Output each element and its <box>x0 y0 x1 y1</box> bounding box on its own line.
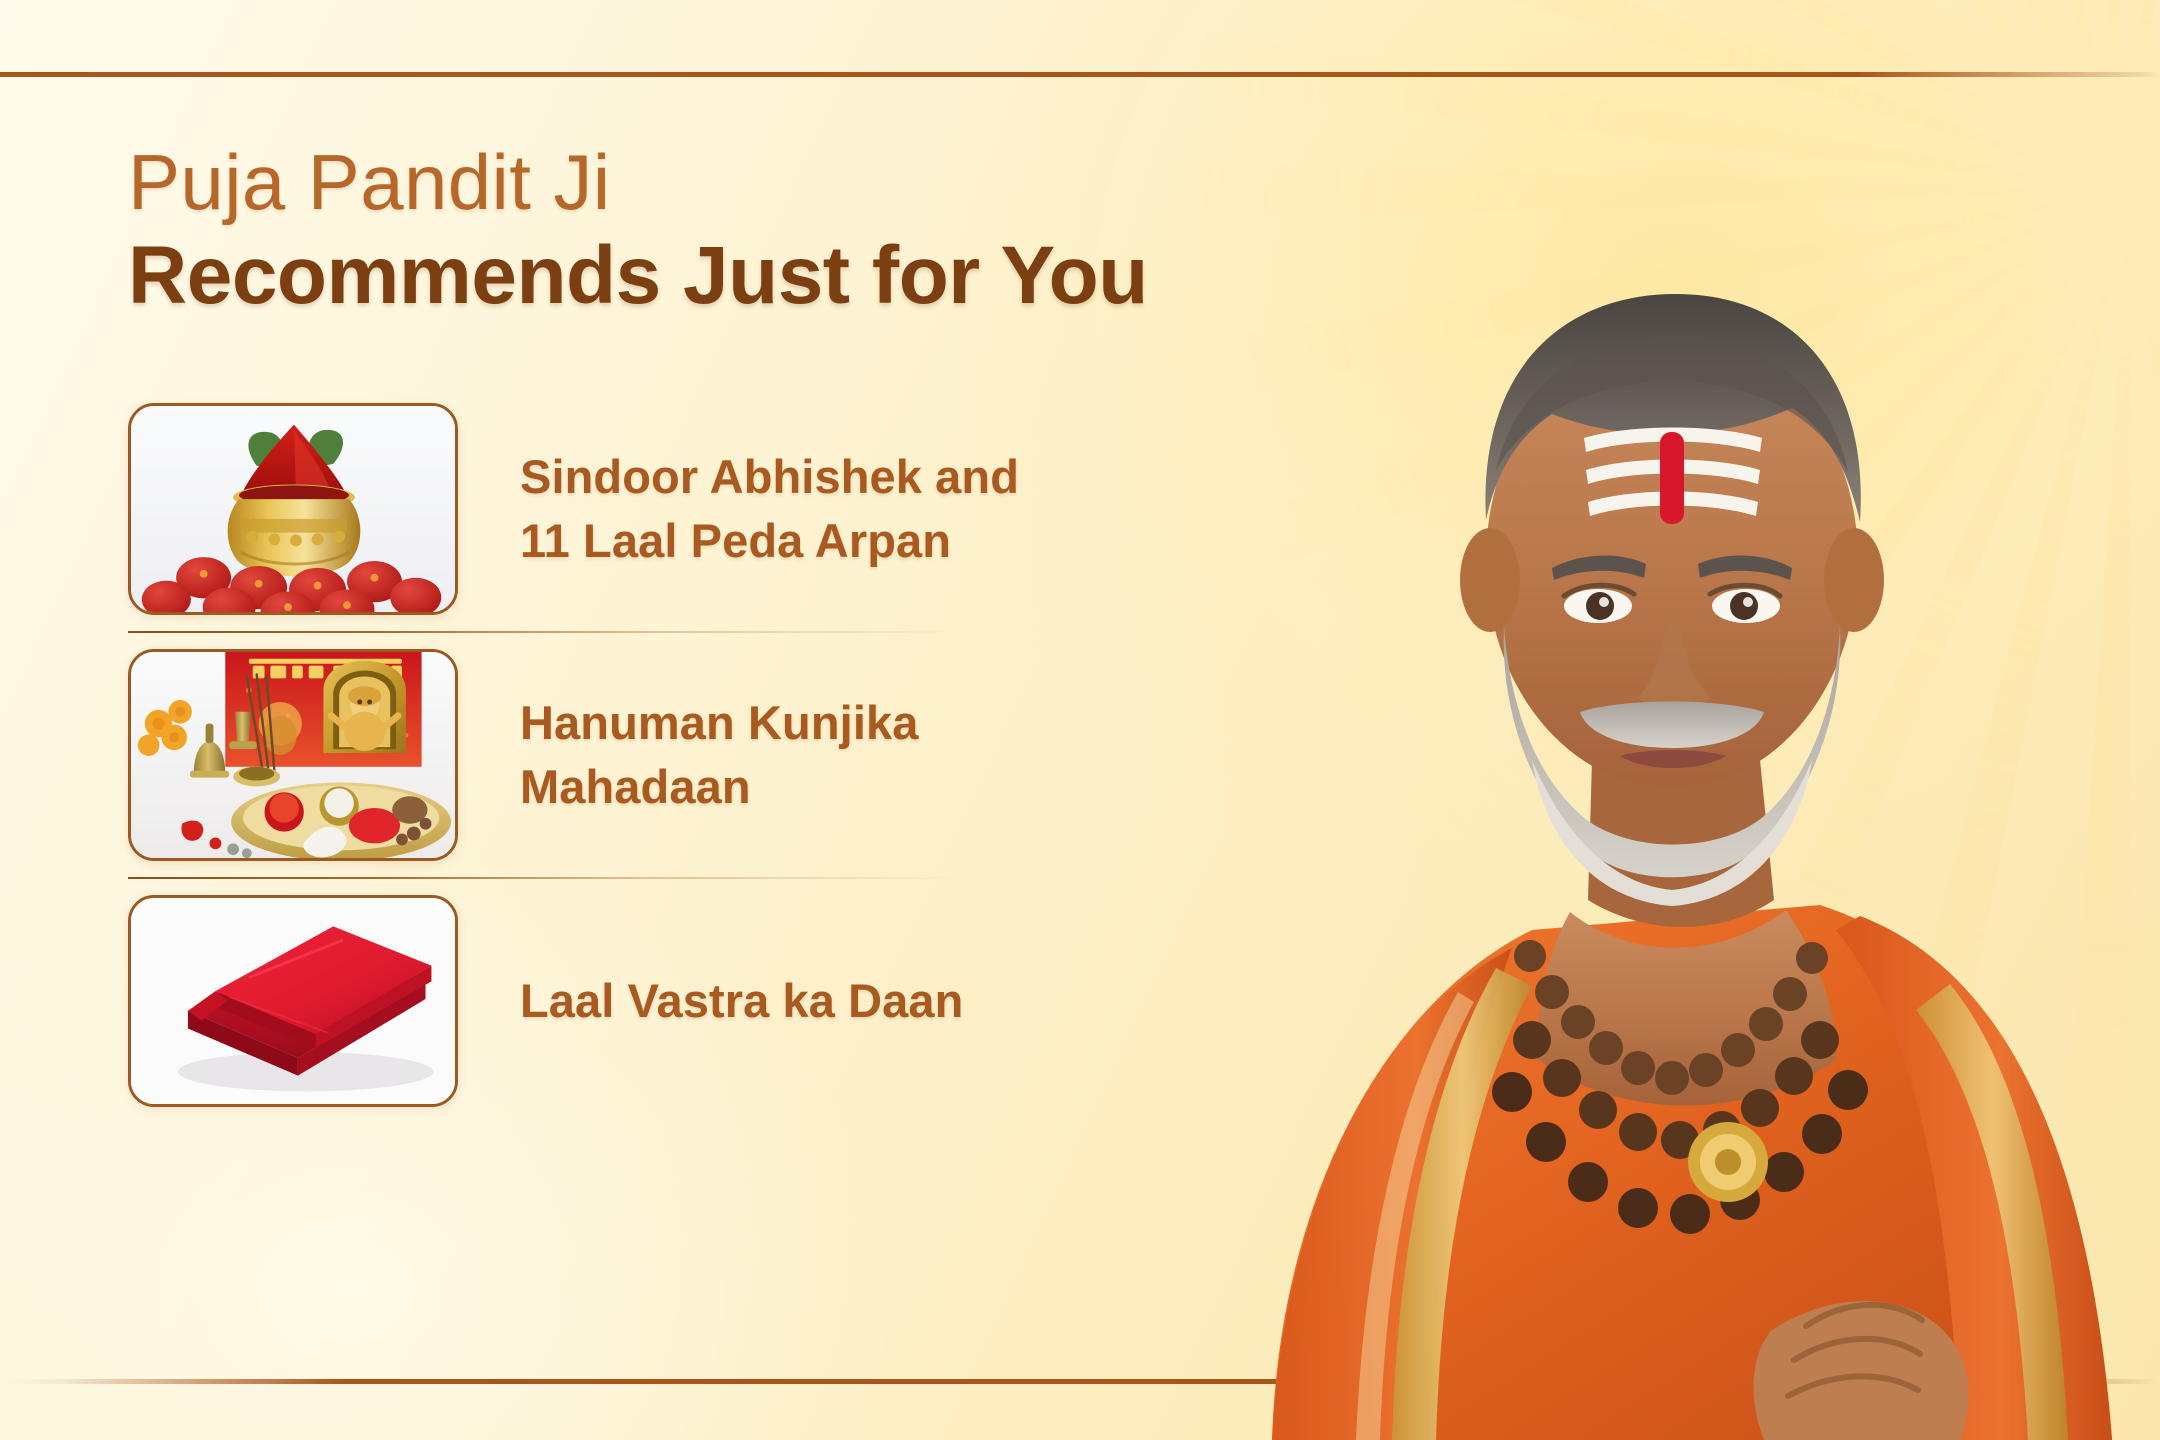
recommendation-list: Sindoor Abhishek and 11 Laal Peda Arpan <box>128 387 1088 1123</box>
list-item-label-line2: 11 Laal Peda Arpan <box>520 509 1019 573</box>
hanuman-puja-thali-image <box>128 649 458 861</box>
list-item-label-line1: Laal Vastra ka Daan <box>520 974 963 1027</box>
list-item-label-line1: Hanuman Kunjika <box>520 696 918 749</box>
top-divider-rule <box>0 72 2160 77</box>
list-item-label: Hanuman Kunjika Mahadaan <box>520 691 918 819</box>
red-folded-cloth-image <box>128 895 458 1107</box>
pandit-portrait <box>1160 0 2160 1440</box>
list-item-label: Sindoor Abhishek and 11 Laal Peda Arpan <box>520 445 1019 573</box>
promo-banner: Puja Pandit Ji Recommends Just for You <box>0 0 2160 1440</box>
list-item[interactable]: Laal Vastra ka Daan <box>128 879 1088 1123</box>
list-item[interactable]: Hanuman Kunjika Mahadaan <box>128 633 1088 877</box>
list-item-label-line1: Sindoor Abhishek and <box>520 450 1019 503</box>
page-title-line1: Puja Pandit Ji <box>128 140 1218 224</box>
tilak-mark <box>1584 428 1762 525</box>
rudraksha-mala <box>1492 940 1868 1234</box>
sindoor-kalash-peda-image <box>128 403 458 615</box>
sunburst-rays-icon <box>1180 0 2160 1140</box>
page-title-line2: Recommends Just for You <box>128 228 1218 325</box>
list-item[interactable]: Sindoor Abhishek and 11 Laal Peda Arpan <box>128 387 1088 631</box>
bottom-divider-rule <box>0 1379 2160 1384</box>
list-item-label-line2: Mahadaan <box>520 755 918 819</box>
banner-content: Puja Pandit Ji Recommends Just for You <box>128 140 1218 1123</box>
list-item-label: Laal Vastra ka Daan <box>520 969 963 1033</box>
